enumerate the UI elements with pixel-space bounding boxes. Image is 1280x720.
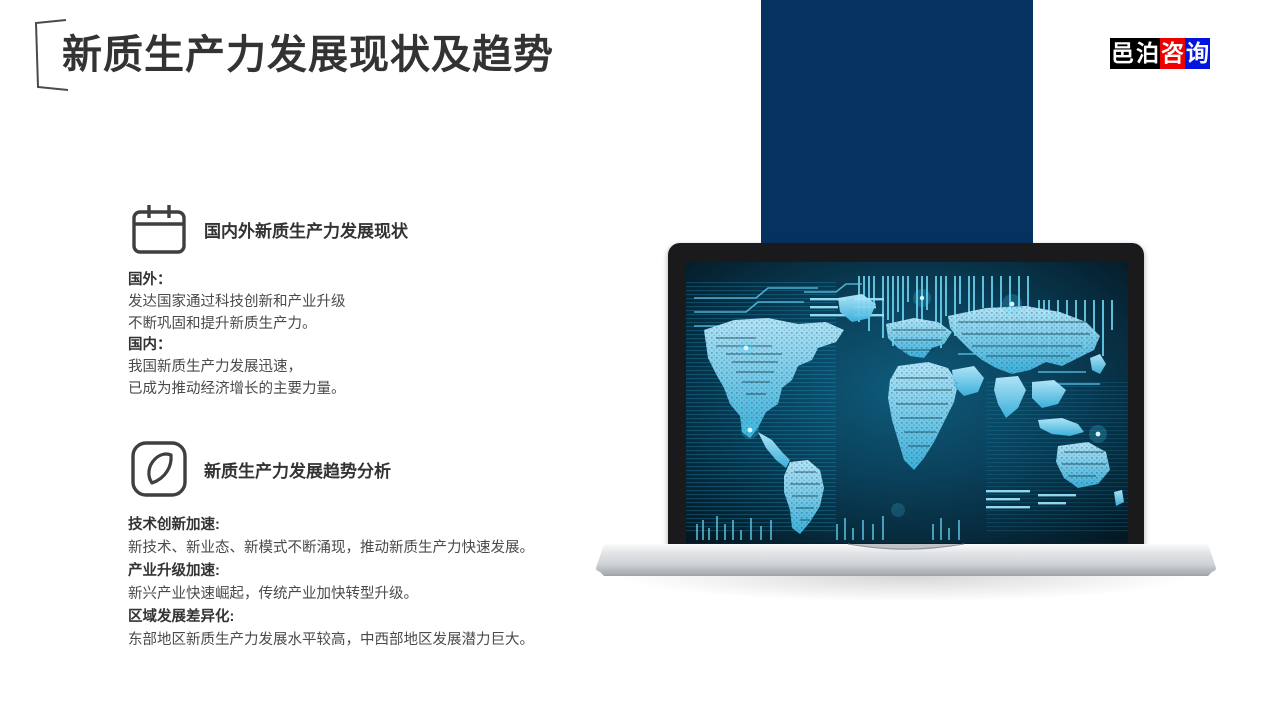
logo-char-1: 邑 [1110,38,1135,69]
section-domestic-international-status: 国内外新质生产力发展现状 国外： 发达国家通过科技创新和产业升级 不断巩固和提升… [128,198,598,400]
body-text: 新兴产业快速崛起，传统产业加快转型升级。 [128,583,598,606]
brand-logo: 邑 泊 咨 询 [1110,38,1210,69]
bracket-decoration-icon [30,16,74,94]
section-heading: 国内外新质生产力发展现状 [204,217,408,242]
body-text: 新技术、新业态、新模式不断涌现，推动新质生产力快速发展。 [128,537,598,560]
body-label: 区域发展差异化: [128,606,598,629]
body-text: 东部地区新质生产力发展水平较高，中西部地区发展潜力巨大。 [128,629,598,652]
laptop-shadow [616,576,1196,602]
body-text: 我国新质生产力发展迅速， [128,356,598,378]
calendar-icon [128,198,190,260]
laptop-screen-world-map [686,262,1128,543]
body-label: 产业升级加速: [128,560,598,583]
body-label: 国外： [128,270,598,291]
body-text: 已成为推动经济增长的主要力量。 [128,378,598,400]
body-label: 国内： [128,335,598,356]
body-label: 技术创新加速: [128,514,598,537]
page-title: 新质生产力发展现状及趋势 [62,35,554,75]
leaf-square-icon [128,438,190,500]
section-trend-analysis: 新质生产力发展趋势分析 技术创新加速: 新技术、新业态、新模式不断涌现，推动新质… [128,438,598,652]
body-text: 发达国家通过科技创新和产业升级 [128,291,598,313]
accent-panel [761,0,1033,248]
laptop-illustration [596,240,1216,600]
section-body: 国外： 发达国家通过科技创新和产业升级 不断巩固和提升新质生产力。 国内： 我国… [128,270,598,400]
page-title-group: 新质生产力发展现状及趋势 [30,14,554,96]
logo-char-2: 泊 [1135,38,1160,69]
body-text: 不断巩固和提升新质生产力。 [128,313,598,335]
section-heading: 新质生产力发展趋势分析 [204,457,391,482]
laptop-lid [668,243,1144,548]
logo-char-4: 询 [1185,38,1210,69]
section-header: 国内外新质生产力发展现状 [128,198,598,260]
logo-char-3: 咨 [1160,38,1185,69]
section-header: 新质生产力发展趋势分析 [128,438,598,500]
section-body: 技术创新加速: 新技术、新业态、新模式不断涌现，推动新质生产力快速发展。 产业升… [128,514,598,652]
